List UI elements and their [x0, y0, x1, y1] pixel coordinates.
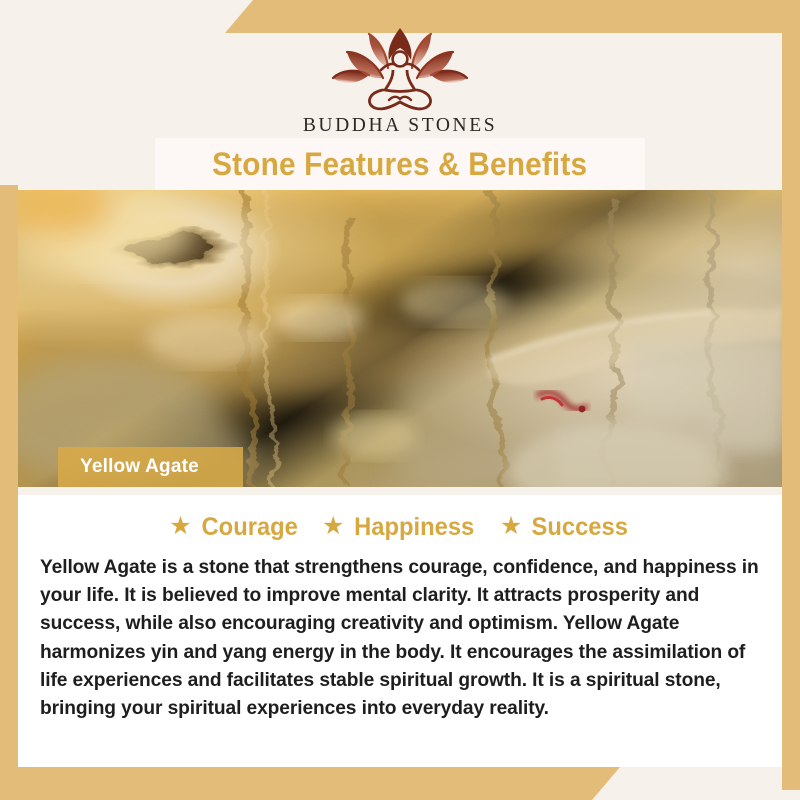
- page-title: Stone Features & Benefits: [212, 146, 587, 183]
- keyword-item-success: ★ Success: [500, 513, 631, 542]
- keyword-label: Happiness: [355, 513, 475, 542]
- infographic-page: BUDDHA STONES Stone Features & Benefits: [0, 0, 800, 800]
- keyword-label: Success: [532, 513, 628, 542]
- lotus-meditation-icon: [325, 26, 475, 112]
- title-banner: Stone Features & Benefits: [155, 138, 645, 190]
- stone-description: Yellow Agate is a stone that strengthens…: [40, 554, 760, 723]
- stone-caption-label: Yellow Agate: [80, 456, 199, 478]
- keyword-item-courage: ★ Courage: [169, 513, 300, 542]
- star-icon: ★: [169, 514, 191, 539]
- gold-frame-left: [0, 185, 18, 800]
- stone-image: Yellow Agate: [18, 190, 782, 487]
- gold-frame-bottom: [0, 767, 620, 800]
- agate-texture-graphic: [18, 190, 782, 487]
- brand-name: BUDDHA STONES: [0, 115, 800, 137]
- brand-logo: BUDDHA STONES: [0, 26, 800, 137]
- stone-caption-bar: Yellow Agate: [58, 447, 243, 487]
- content-panel: ★ Courage ★ Happiness ★ Success Yellow A…: [18, 495, 782, 767]
- keyword-item-happiness: ★ Happiness: [322, 513, 478, 542]
- keyword-label: Courage: [201, 513, 297, 542]
- star-icon: ★: [322, 514, 344, 539]
- keyword-list: ★ Courage ★ Happiness ★ Success: [18, 495, 782, 542]
- star-icon: ★: [500, 514, 522, 539]
